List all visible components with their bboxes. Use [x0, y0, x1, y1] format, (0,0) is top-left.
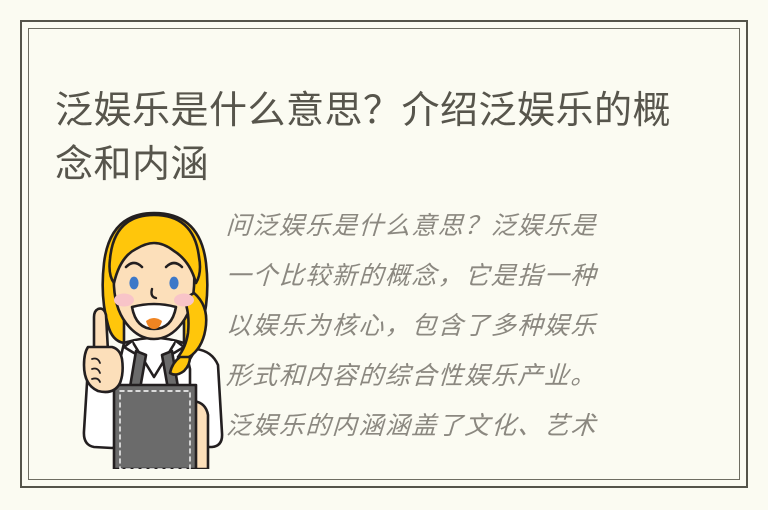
body-line-5: 泛娱乐的内涵涵盖了文化、艺术 [225, 401, 653, 451]
body-line-3: 以娱乐为核心，包含了多种娱乐 [225, 301, 653, 351]
eye-left [129, 277, 138, 290]
index-finger [94, 309, 108, 351]
cheek-left [114, 294, 134, 307]
page-title: 泛娱乐是什么意思？介绍泛娱乐的概念和内涵 [55, 84, 695, 192]
body-line-4: 形式和内容的综合性娱乐产业。 [225, 351, 653, 401]
body-line-2: 一个比较新的概念，它是指一种 [225, 251, 653, 301]
eye-right [169, 277, 178, 290]
body-line-1: 问泛娱乐是什么意思？泛娱乐是 [225, 201, 653, 251]
cheek-right [174, 294, 194, 307]
apron-body [114, 385, 196, 469]
document-page: 泛娱乐是什么意思？介绍泛娱乐的概念和内涵 [0, 0, 768, 510]
body-text-block: 问泛娱乐是什么意思？泛娱乐是 一个比较新的概念，它是指一种 以娱乐为核心，包含了… [226, 201, 651, 451]
fist [84, 347, 123, 392]
illustration-cartoon-girl [72, 201, 237, 469]
content-area: 泛娱乐是什么意思？介绍泛娱乐的概念和内涵 [29, 29, 739, 479]
